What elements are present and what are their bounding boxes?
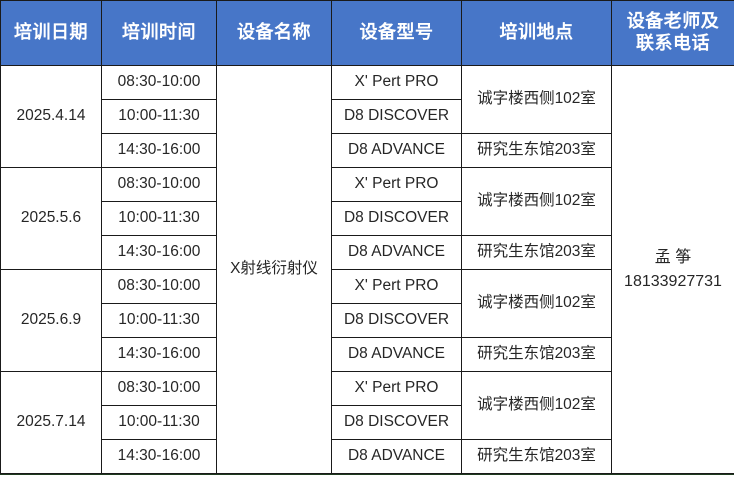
- cell-training-time: 10:00-11:30: [102, 202, 217, 236]
- cell-equipment-model: D8 ADVANCE: [332, 236, 462, 270]
- training-schedule-table: 培训日期培训时间设备名称设备型号培训地点设备老师及联系电话 2025.4.140…: [0, 0, 734, 474]
- cell-training-date: 2025.4.14: [1, 66, 102, 168]
- cell-training-date: 2025.6.9: [1, 270, 102, 372]
- cell-training-place: 研究生东馆203室: [462, 134, 612, 168]
- table-header: 培训日期培训时间设备名称设备型号培训地点设备老师及联系电话: [1, 1, 734, 66]
- cell-training-time: 08:30-10:00: [102, 270, 217, 304]
- cell-training-place: 研究生东馆203室: [462, 338, 612, 372]
- column-header-teacher: 设备老师及联系电话: [612, 1, 734, 66]
- column-header-teacher-line: 联系电话: [614, 33, 732, 55]
- cell-training-time: 08:30-10:00: [102, 168, 217, 202]
- column-header-place-line: 培训地点: [464, 22, 609, 44]
- cell-equipment-model: D8 ADVANCE: [332, 134, 462, 168]
- cell-training-time: 14:30-16:00: [102, 134, 217, 168]
- cell-training-place: 诚字楼西侧102室: [462, 270, 612, 338]
- cell-training-place: 诚字楼西侧102室: [462, 66, 612, 134]
- cell-training-time: 10:00-11:30: [102, 304, 217, 338]
- cell-training-date: 2025.5.6: [1, 168, 102, 270]
- cell-equipment-model: D8 DISCOVER: [332, 100, 462, 134]
- cell-equipment-model: D8 DISCOVER: [332, 202, 462, 236]
- cell-training-time: 08:30-10:00: [102, 66, 217, 100]
- cell-equipment-model: D8 DISCOVER: [332, 406, 462, 440]
- cell-equipment-model: X' Pert PRO: [332, 270, 462, 304]
- sheet-footer-space: [0, 475, 734, 483]
- column-header-teacher-line: 设备老师及: [614, 11, 732, 33]
- table-body: 2025.4.1408:30-10:00X射线衍射仪X' Pert PRO诚字楼…: [1, 66, 734, 474]
- cell-training-place: 诚字楼西侧102室: [462, 372, 612, 440]
- cell-training-time: 14:30-16:00: [102, 236, 217, 270]
- column-header-time: 培训时间: [102, 1, 217, 66]
- cell-equipment-name: X射线衍射仪: [217, 66, 332, 474]
- header-row: 培训日期培训时间设备名称设备型号培训地点设备老师及联系电话: [1, 1, 734, 66]
- cell-training-time: 10:00-11:30: [102, 100, 217, 134]
- cell-training-time: 14:30-16:00: [102, 440, 217, 474]
- cell-training-date: 2025.7.14: [1, 372, 102, 474]
- cell-training-time: 10:00-11:30: [102, 406, 217, 440]
- cell-equipment-model: X' Pert PRO: [332, 372, 462, 406]
- cell-equipment-model: D8 ADVANCE: [332, 440, 462, 474]
- column-header-time-line: 培训时间: [104, 22, 214, 44]
- cell-equipment-model: X' Pert PRO: [332, 168, 462, 202]
- cell-training-place: 诚字楼西侧102室: [462, 168, 612, 236]
- column-header-name: 设备名称: [217, 1, 332, 66]
- cell-teacher-contact: 孟 筝 18133927731: [612, 66, 734, 474]
- column-header-date-line: 培训日期: [3, 22, 99, 44]
- column-header-model-line: 设备型号: [334, 22, 459, 44]
- column-header-place: 培训地点: [462, 1, 612, 66]
- column-header-name-line: 设备名称: [219, 22, 329, 44]
- cell-equipment-model: D8 ADVANCE: [332, 338, 462, 372]
- cell-equipment-model: D8 DISCOVER: [332, 304, 462, 338]
- cell-training-time: 08:30-10:00: [102, 372, 217, 406]
- column-header-model: 设备型号: [332, 1, 462, 66]
- table-row: 2025.4.1408:30-10:00X射线衍射仪X' Pert PRO诚字楼…: [1, 66, 734, 100]
- cell-equipment-model: X' Pert PRO: [332, 66, 462, 100]
- cell-training-place: 研究生东馆203室: [462, 440, 612, 474]
- column-header-date: 培训日期: [1, 1, 102, 66]
- cell-training-time: 14:30-16:00: [102, 338, 217, 372]
- cell-training-place: 研究生东馆203室: [462, 236, 612, 270]
